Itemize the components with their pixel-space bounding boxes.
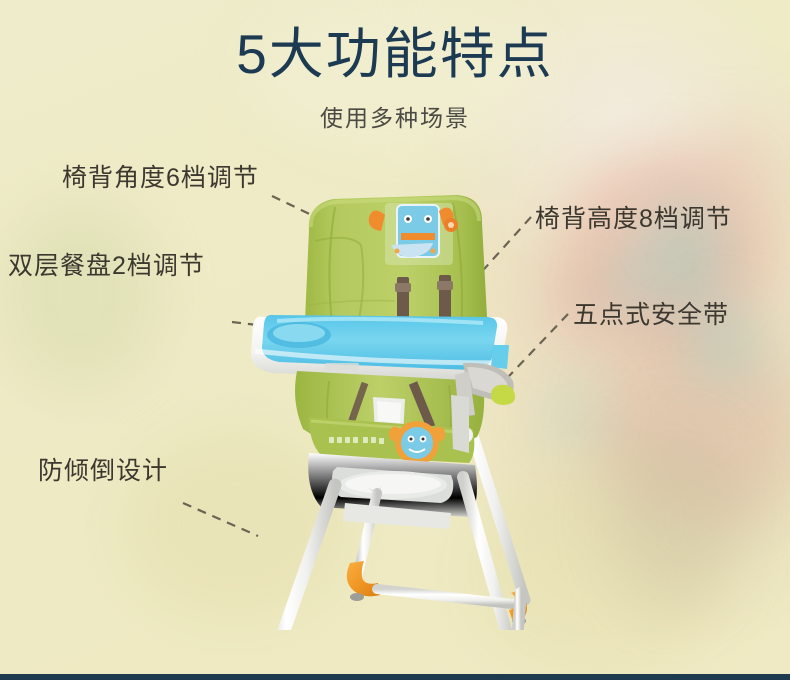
feature-label-double-tray: 双层餐盘2档调节 <box>8 251 205 281</box>
bottom-accent-bar <box>0 674 790 680</box>
feature-label-five-point-belt: 五点式安全带 <box>573 300 729 330</box>
product-feature-banner: 5大功能特点 使用多种场景 椅背角度6档调节 双层餐盘2档调节 椅背高度8档调节… <box>0 0 790 680</box>
feature-label-backrest-height: 椅背高度8档调节 <box>535 204 732 234</box>
front-right-leg-lower <box>515 593 521 630</box>
page-subtitle: 使用多种场景 <box>0 104 790 132</box>
page-title: 5大功能特点 <box>0 24 790 84</box>
feature-label-anti-tip: 防倾倒设计 <box>38 456 168 486</box>
product-image-high-chair <box>225 185 555 630</box>
